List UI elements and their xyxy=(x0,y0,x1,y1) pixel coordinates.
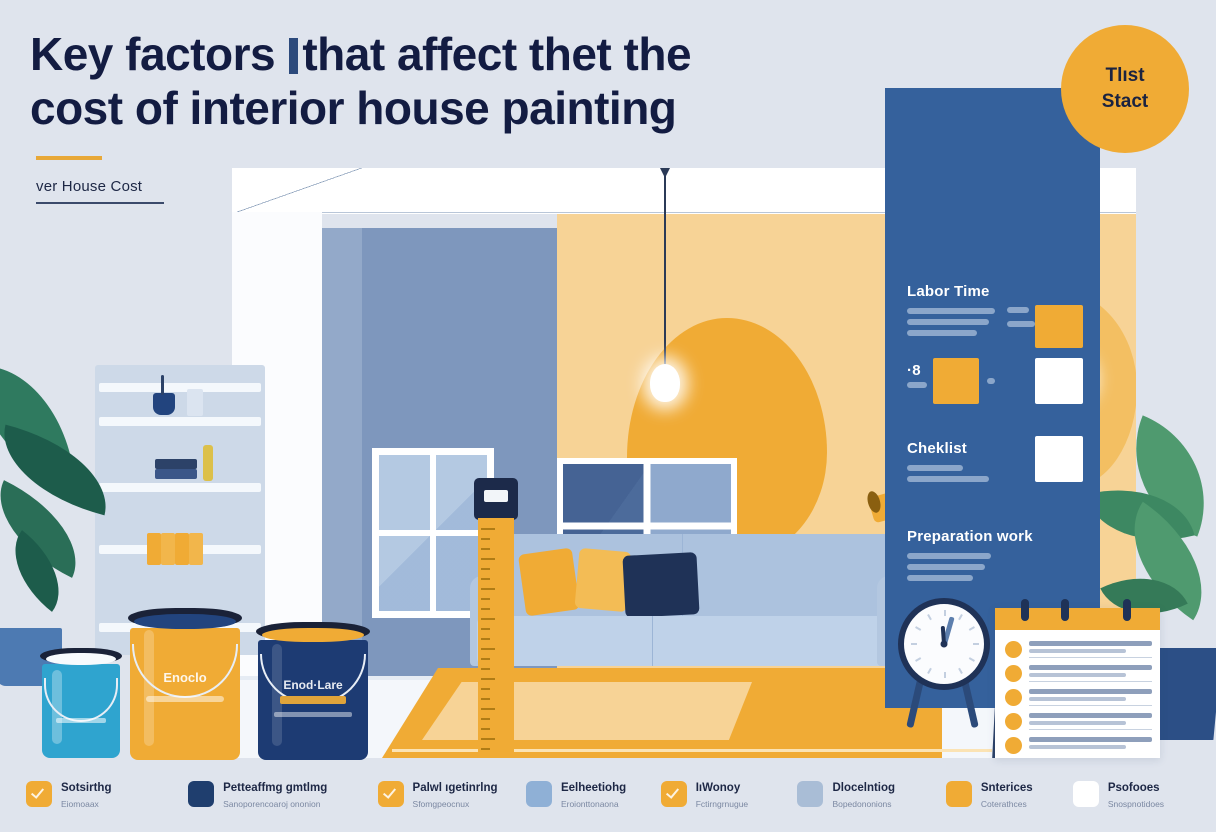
swatch-amber-1 xyxy=(1035,305,1083,348)
clipboard-header-bar xyxy=(995,608,1160,630)
legend-sub: Sfomgpeocnux xyxy=(413,799,498,809)
checklist-clipboard xyxy=(995,608,1160,758)
blue-square-icon xyxy=(526,781,552,807)
ceiling-corner-line xyxy=(232,168,362,214)
legend-title: Palwl ıgetinrlng xyxy=(413,782,498,795)
grey-square-icon xyxy=(797,781,823,807)
kicker-rule xyxy=(36,202,164,204)
panel-blurline xyxy=(1007,321,1035,327)
corner-badge[interactable]: Tlıst Stact xyxy=(1061,25,1189,153)
can-lid xyxy=(134,614,236,629)
badge-line-1: Tlıst xyxy=(1105,63,1144,89)
legend-item-5[interactable]: Dlocelntiog Bopedononions xyxy=(797,781,945,808)
can-label: Enoclo xyxy=(130,670,240,685)
checklist-bullet xyxy=(1005,713,1022,730)
tape-measure-strip xyxy=(478,518,514,758)
wall-blue-shadow xyxy=(322,228,362,683)
legend-sub: Eroionttonaona xyxy=(561,799,626,809)
shelf-plank-2 xyxy=(99,417,261,426)
legend-title: Eelheetiohg xyxy=(561,782,626,795)
can-lid xyxy=(262,628,364,642)
swatch-white-1 xyxy=(1035,358,1083,404)
legend-title: Petteaffmg gmtlmg xyxy=(223,782,327,795)
shelf-book-3 xyxy=(203,445,213,481)
shelf-plank-3 xyxy=(99,483,261,492)
accent-rule xyxy=(36,156,102,160)
wall-clock xyxy=(898,598,990,728)
badge-line-2: Stact xyxy=(1102,89,1148,115)
window-mullion-horizontal xyxy=(379,530,487,536)
panel-block-preparation: Preparation work xyxy=(907,528,1082,581)
panel-block-labor-time: Labor Time xyxy=(907,283,1082,336)
title-part-2: that affect thet the xyxy=(302,28,691,80)
checklist-bullet xyxy=(1005,641,1022,658)
can-lid xyxy=(46,653,116,665)
legend-sub: Sanoporencoaroj ononion xyxy=(223,799,327,809)
shelf-crate-2 xyxy=(161,533,175,565)
checklist-row[interactable] xyxy=(1005,640,1152,662)
amber-check-icon xyxy=(661,781,687,807)
paint-can-large-amber: Enoclo xyxy=(130,608,240,760)
can-sub-line xyxy=(56,718,106,723)
clipboard-ring-1 xyxy=(1021,599,1029,621)
checklist-row[interactable] xyxy=(1005,736,1152,758)
navy-square-icon xyxy=(188,781,214,807)
clipboard-ring-3 xyxy=(1123,599,1131,621)
tape-measure-case xyxy=(474,478,518,520)
checklist-bullet xyxy=(1005,689,1022,706)
floor-rug-inner xyxy=(422,682,752,740)
panel-blurline xyxy=(987,378,995,384)
infographic-canvas: Key factors that affect thet the cost of… xyxy=(0,0,1216,832)
panel-heading-1: ·8 xyxy=(907,362,921,379)
amber-check-icon xyxy=(26,781,52,807)
panel-blurline xyxy=(907,465,963,471)
shelf-object-pot xyxy=(153,393,175,415)
legend-item-4[interactable]: IıWonoy Fctirngrnugue xyxy=(661,781,798,808)
panel-blurline xyxy=(907,476,989,482)
legend-item-2[interactable]: Palwl ıgetinrlng Sfomgpeocnux xyxy=(378,781,526,808)
pendant-cord-1 xyxy=(664,170,666,370)
clock-face xyxy=(898,598,990,690)
panel-blurline xyxy=(907,308,995,314)
shelf-object-box xyxy=(187,389,203,416)
sofa-seat-seam xyxy=(652,616,653,666)
legend-title: Dlocelntiog xyxy=(832,782,895,795)
panel-blurline xyxy=(907,553,991,559)
amber-square-icon xyxy=(946,781,972,807)
legend-sub: Fctirngrnugue xyxy=(696,799,748,809)
checklist-row[interactable] xyxy=(1005,688,1152,710)
panel-block-checklist: Cheklist xyxy=(907,440,1082,502)
shelf-plank-1 xyxy=(99,383,261,392)
shelf-crate-4 xyxy=(189,533,203,565)
title-divider-glyph xyxy=(289,38,298,74)
panel-heading-0: Labor Time xyxy=(907,283,1082,300)
panel-blurline xyxy=(907,319,989,325)
can-stripe xyxy=(280,696,346,704)
sofa-seat xyxy=(477,616,917,666)
clock-center-pin xyxy=(941,641,948,648)
panel-blurline xyxy=(907,564,985,570)
paint-can-small-blue xyxy=(42,648,120,758)
amber-check-icon xyxy=(378,781,404,807)
legend-title: IıWonoy xyxy=(696,782,748,795)
legend-sub: Coterathces xyxy=(981,799,1033,809)
page-title: Key factors that affect thet the cost of… xyxy=(30,28,730,136)
swatch-amber-2 xyxy=(933,358,979,404)
checklist-bullet xyxy=(1005,737,1022,754)
shelf-crate-3 xyxy=(175,533,189,565)
panel-blurline xyxy=(1007,307,1029,313)
pillow-navy xyxy=(622,552,699,618)
legend-title: Sotsirthg xyxy=(61,782,111,795)
tape-measure-slot xyxy=(484,490,508,502)
legend-item-1[interactable]: Petteaffmg gmtlmg Sanoporencoaroj ononio… xyxy=(188,781,377,808)
checklist-row[interactable] xyxy=(1005,712,1152,734)
legend-sub: Bopedononions xyxy=(832,799,895,809)
patch-divider-horizontal xyxy=(557,522,737,529)
kicker-label: ver House Cost xyxy=(36,178,142,195)
can-label: Enod·Lare xyxy=(258,678,368,692)
legend-title: Snterices xyxy=(981,782,1033,795)
legend-item-7[interactable]: Psofooes Snospnotidoes xyxy=(1073,781,1190,808)
checklist-row[interactable] xyxy=(1005,664,1152,686)
plant-left xyxy=(0,360,120,690)
shelf-object-stem xyxy=(161,375,164,395)
legend-title: Psofooes xyxy=(1108,782,1164,795)
tape-measure xyxy=(478,478,514,758)
shelf-book-1 xyxy=(155,459,197,469)
pendant-bulb-1 xyxy=(650,364,680,402)
panel-blurline xyxy=(907,575,973,581)
legend-bar: Sotsirthg Eiomoaax Petteaffmg gmtlmg San… xyxy=(0,758,1216,832)
legend-sub: Snospnotidoes xyxy=(1108,799,1164,809)
legend-item-6[interactable]: Snterices Coterathces xyxy=(946,781,1073,808)
clipboard-ring-2 xyxy=(1061,599,1069,621)
can-sub-line xyxy=(146,696,224,702)
panel-heading-3: Preparation work xyxy=(907,528,1082,545)
title-part-1: Key factors xyxy=(30,28,275,80)
legend-item-0[interactable]: Sotsirthg Eiomoaax xyxy=(26,781,188,808)
shelf-crate-1 xyxy=(147,533,161,565)
pillow-amber-1 xyxy=(518,548,580,617)
swatch-white-2 xyxy=(1035,436,1083,482)
title-line-2: cost of interior house painting xyxy=(30,82,730,136)
shelf-book-2 xyxy=(155,469,197,479)
panel-block-swatches: ·8 xyxy=(907,362,1082,414)
panel-blurline xyxy=(907,330,977,336)
white-square-icon xyxy=(1073,781,1099,807)
checklist-bullet xyxy=(1005,665,1022,682)
panel-blurline xyxy=(907,382,927,388)
paint-can-large-navy: Enod·Lare xyxy=(258,622,368,760)
legend-item-3[interactable]: Eelheetiohg Eroionttonaona xyxy=(526,781,661,808)
can-sub-line xyxy=(274,712,352,717)
legend-sub: Eiomoaax xyxy=(61,799,111,809)
